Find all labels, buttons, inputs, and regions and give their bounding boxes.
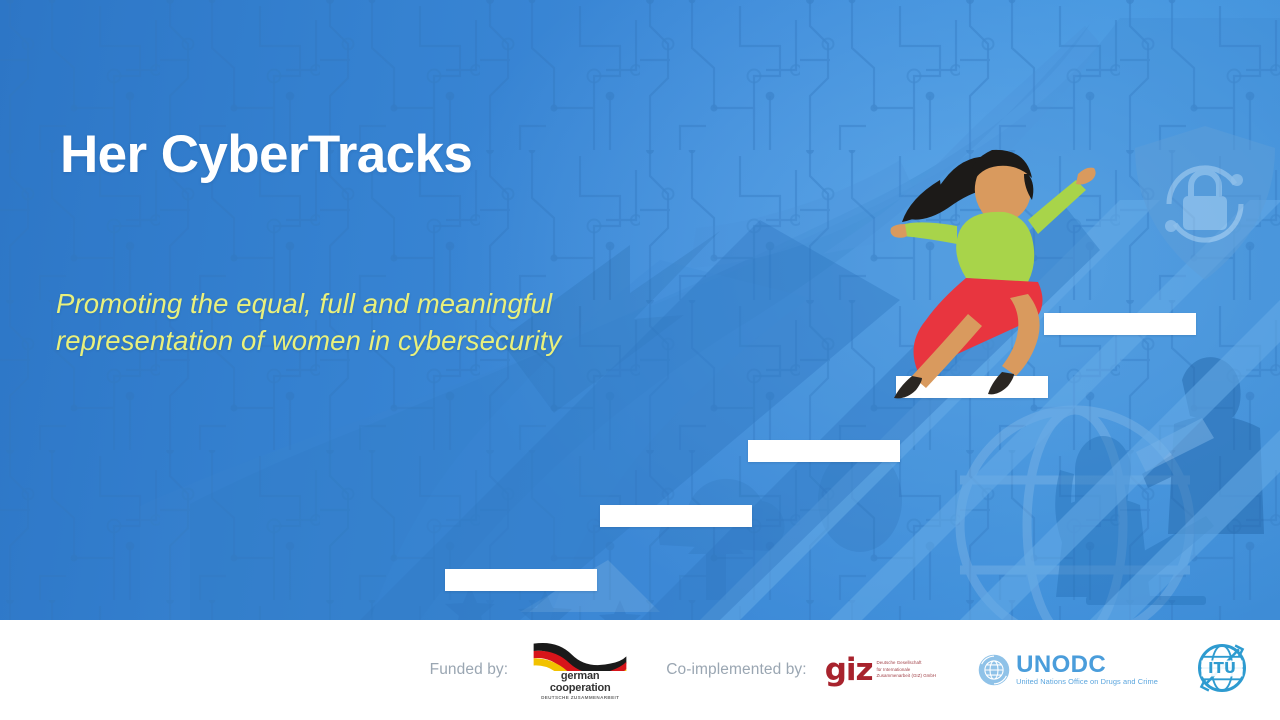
giz-line2: für Internationale [877, 667, 937, 674]
slide-root: Funded by: german cooperation DEUTSCHE Z… [0, 0, 1280, 720]
itu-wordmark: ITU [1208, 659, 1236, 677]
german-cooperation-line1: german [530, 671, 630, 682]
giz-line3: Zusammenarbeit (GIZ) GmbH [877, 673, 937, 680]
funded-by-label: Funded by: [430, 661, 509, 679]
giz-wordmark: giz [825, 658, 873, 683]
page-subtitle: Promoting the equal, full and meaningful… [56, 286, 696, 360]
german-cooperation-line3: DEUTSCHE ZUSAMMENARBEIT [530, 695, 630, 700]
german-cooperation-line2: cooperation [530, 683, 630, 694]
giz-logo: giz Deutsche Gesellschaft für Internatio… [825, 658, 936, 683]
unodc-logo: UNODC United Nations Office on Drugs and… [978, 654, 1158, 687]
page-title: Her CyberTracks [60, 127, 472, 182]
footer: Funded by: german cooperation DEUTSCHE Z… [0, 620, 1280, 720]
unodc-wordmark: UNODC [1016, 654, 1158, 676]
giz-line1: Deutsche Gesellschaft [877, 660, 937, 667]
step-bar[interactable] [445, 569, 597, 591]
un-emblem-icon [978, 654, 1010, 686]
unodc-tagline: United Nations Office on Drugs and Crime [1016, 677, 1158, 686]
co-implemented-by-label: Co-implemented by: [666, 661, 807, 679]
german-cooperation-logo: german cooperation DEUTSCHE ZUSAMMENARBE… [530, 640, 630, 699]
shield-lock-icon [1125, 118, 1280, 293]
step-bar[interactable] [600, 505, 752, 527]
itu-logo: ITU [1192, 638, 1256, 702]
leaping-woman-illustration [852, 118, 1102, 408]
step-bar[interactable] [748, 440, 900, 462]
